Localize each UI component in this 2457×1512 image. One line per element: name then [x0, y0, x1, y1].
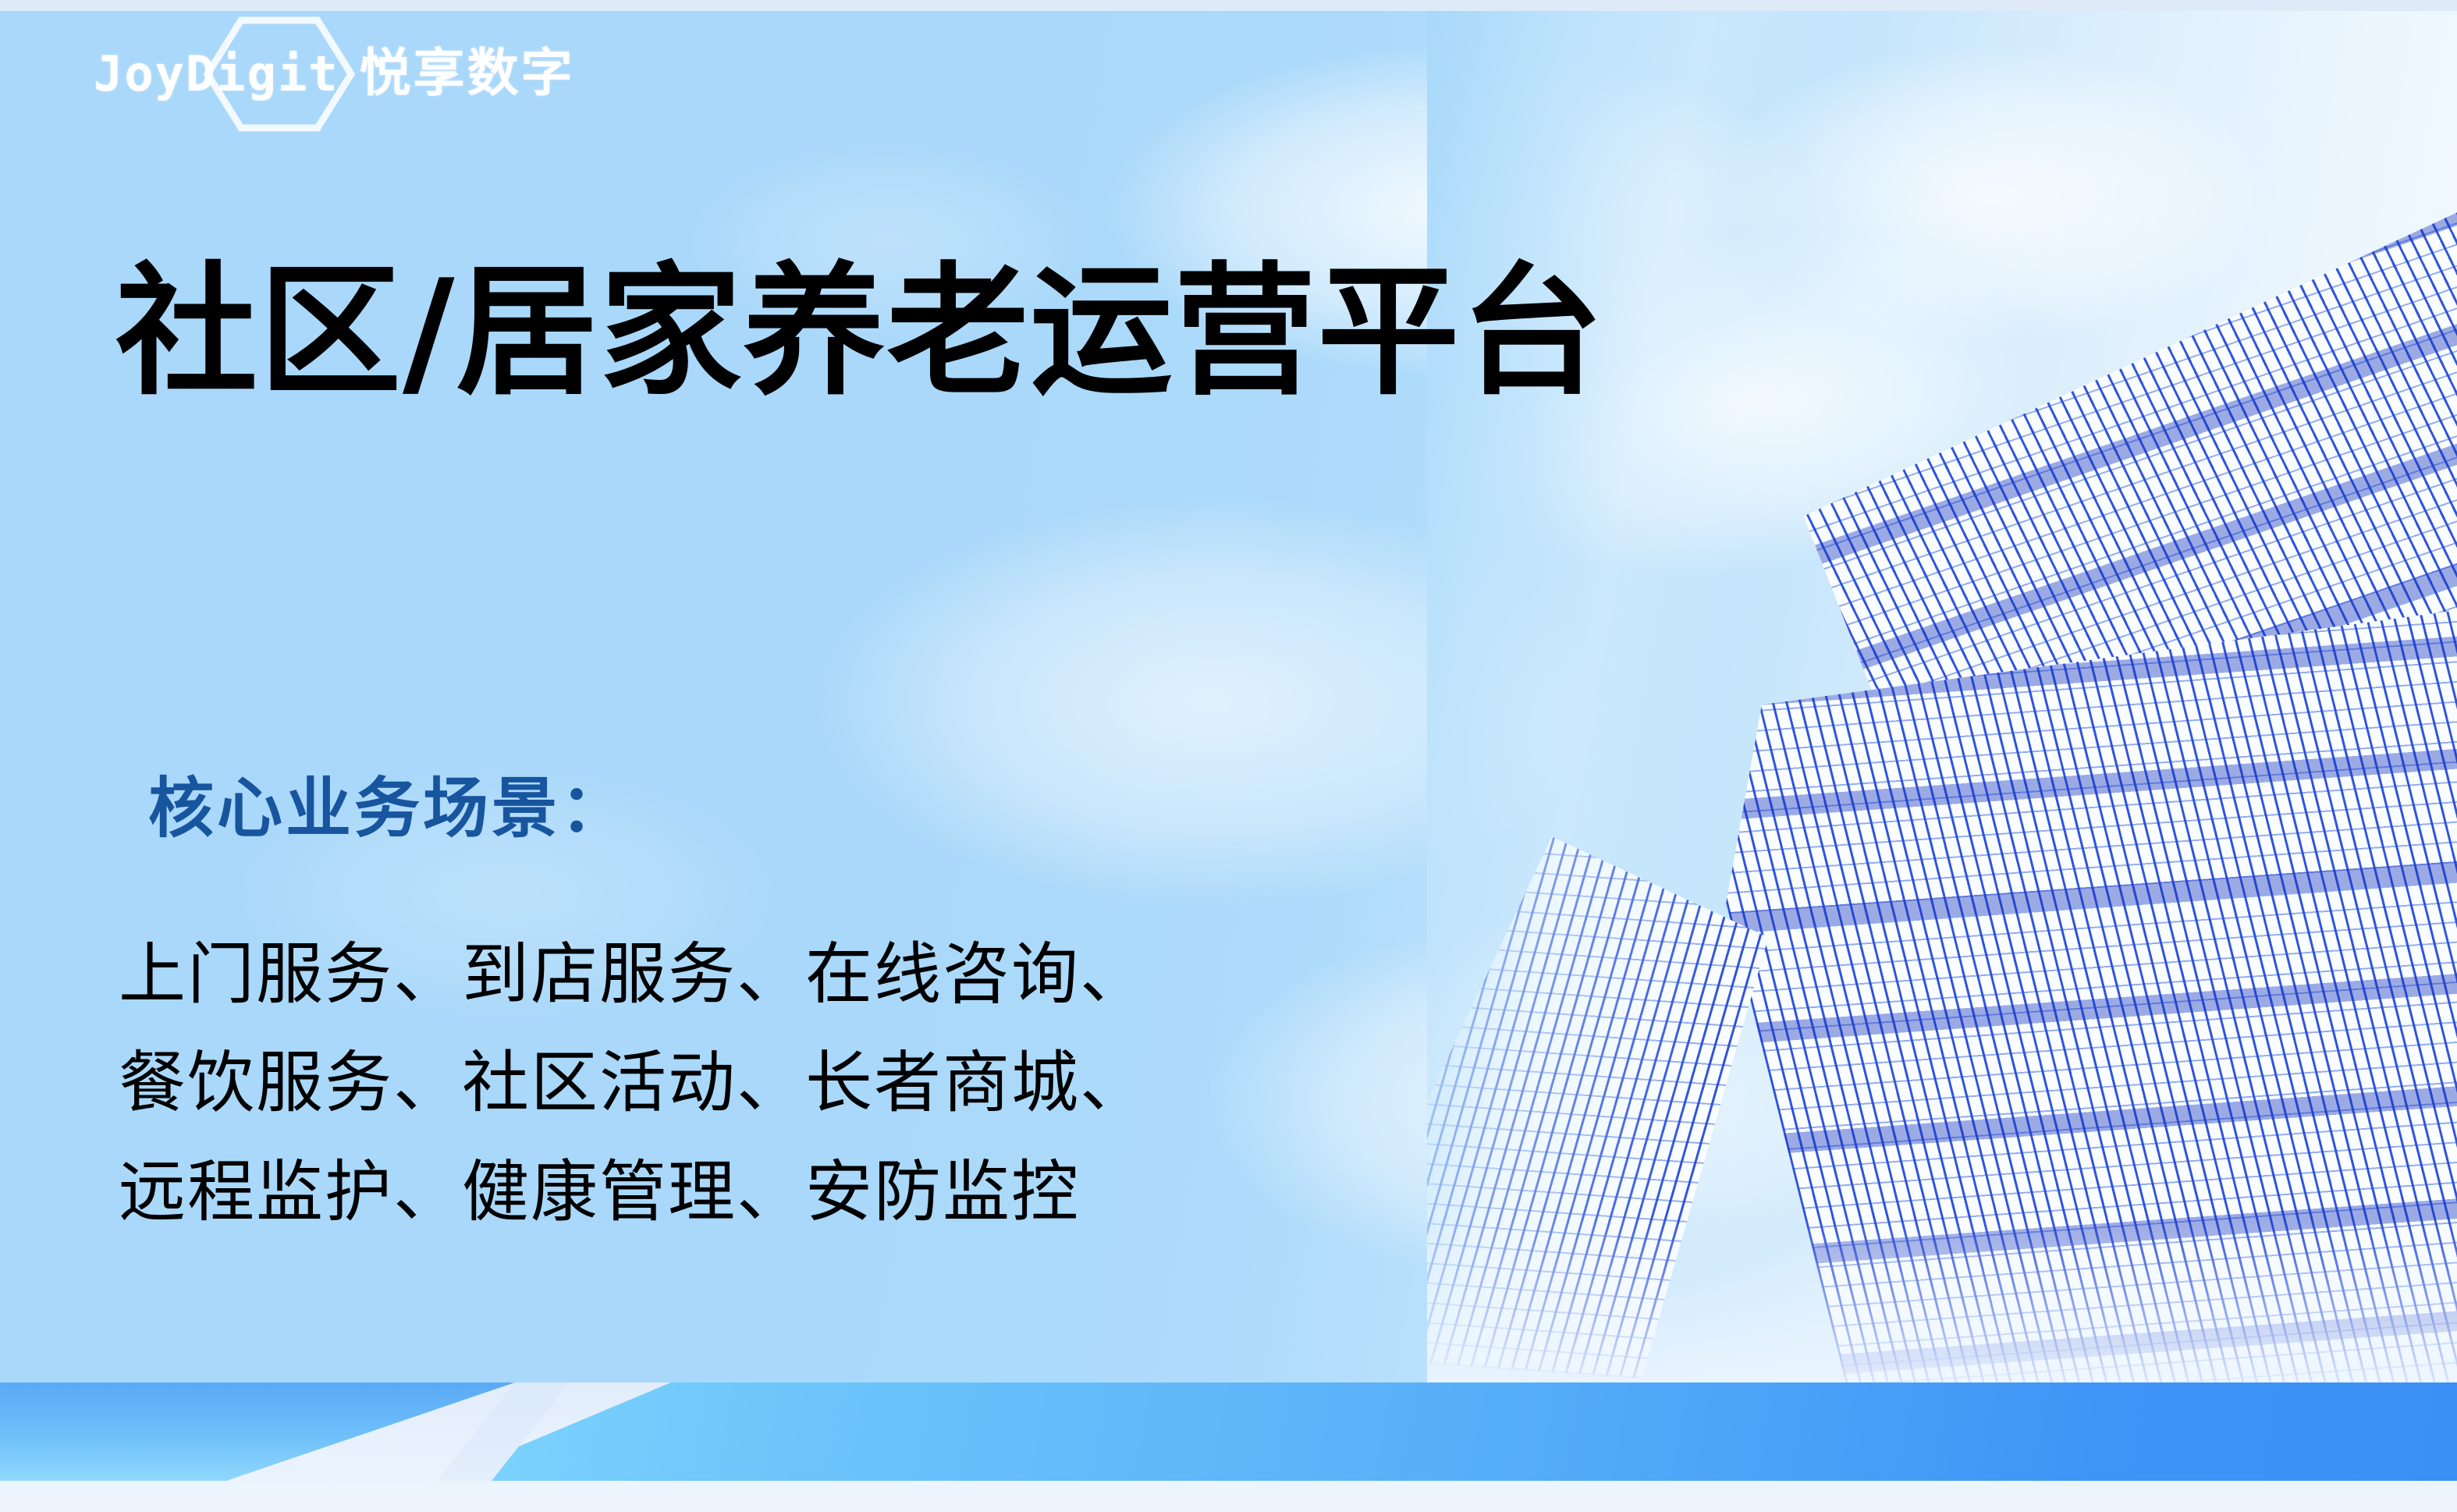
top-edge-strip [0, 0, 2457, 11]
brand-name-en: JoyDigit [94, 50, 339, 98]
skyscraper-photo [1427, 11, 2457, 1382]
brand-name-cn: 悦享数字 [360, 48, 575, 99]
scenario-line: 远程监护、健康管理、安防监控 [119, 1138, 1149, 1247]
tower-accent-bands [1666, 604, 2457, 1382]
scenario-line: 上门服务、到店服务、在线咨询、 [119, 921, 1149, 1029]
scenario-list: 上门服务、到店服务、在线咨询、 餐饮服务、社区活动、长者商城、 远程监护、健康管… [119, 921, 1149, 1247]
brand-logo-text: JoyDigit 悦享数字 [94, 48, 575, 99]
section-heading: 核心业务场景： [148, 772, 629, 844]
tower-lower [1666, 604, 2457, 1382]
band-right-parallelogram [437, 1382, 2457, 1481]
brand-logo[interactable]: JoyDigit 悦享数字 [94, 19, 687, 128]
page-title: 社区/居家养老运营平台 [115, 257, 1604, 406]
scenario-line: 餐饮服务、社区活动、长者商城、 [119, 1029, 1149, 1138]
bottom-decorative-band [0, 1382, 2457, 1512]
slide-canvas: JoyDigit 悦享数字 社区/居家养老运营平台 核心业务场景： 上门服务、到… [0, 0, 2457, 1512]
